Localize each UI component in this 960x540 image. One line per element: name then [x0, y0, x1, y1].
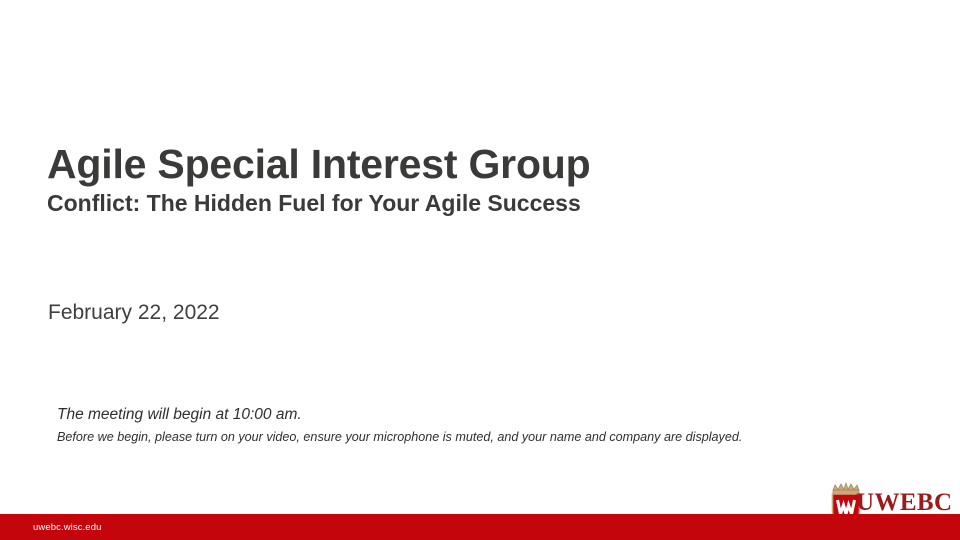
- footer-website-url: uwebc.wisc.edu: [33, 522, 101, 533]
- page-title: Agile Special Interest Group: [47, 142, 907, 186]
- page-subtitle: Conflict: The Hidden Fuel for Your Agile…: [47, 189, 907, 218]
- slide-date: February 22, 2022: [48, 301, 220, 325]
- meeting-notice-block: The meeting will begin at 10:00 am. Befo…: [57, 404, 947, 447]
- uwebc-wordmark: UWEBC: [856, 490, 952, 515]
- title-block: Agile Special Interest Group Conflict: T…: [47, 142, 907, 218]
- footer-bar: uwebc.wisc.edu: [0, 514, 960, 540]
- meeting-start-time-text: The meeting will begin at 10:00 am.: [57, 404, 947, 426]
- meeting-instructions-text: Before we begin, please turn on your vid…: [57, 428, 947, 447]
- presentation-slide: Agile Special Interest Group Conflict: T…: [0, 0, 960, 540]
